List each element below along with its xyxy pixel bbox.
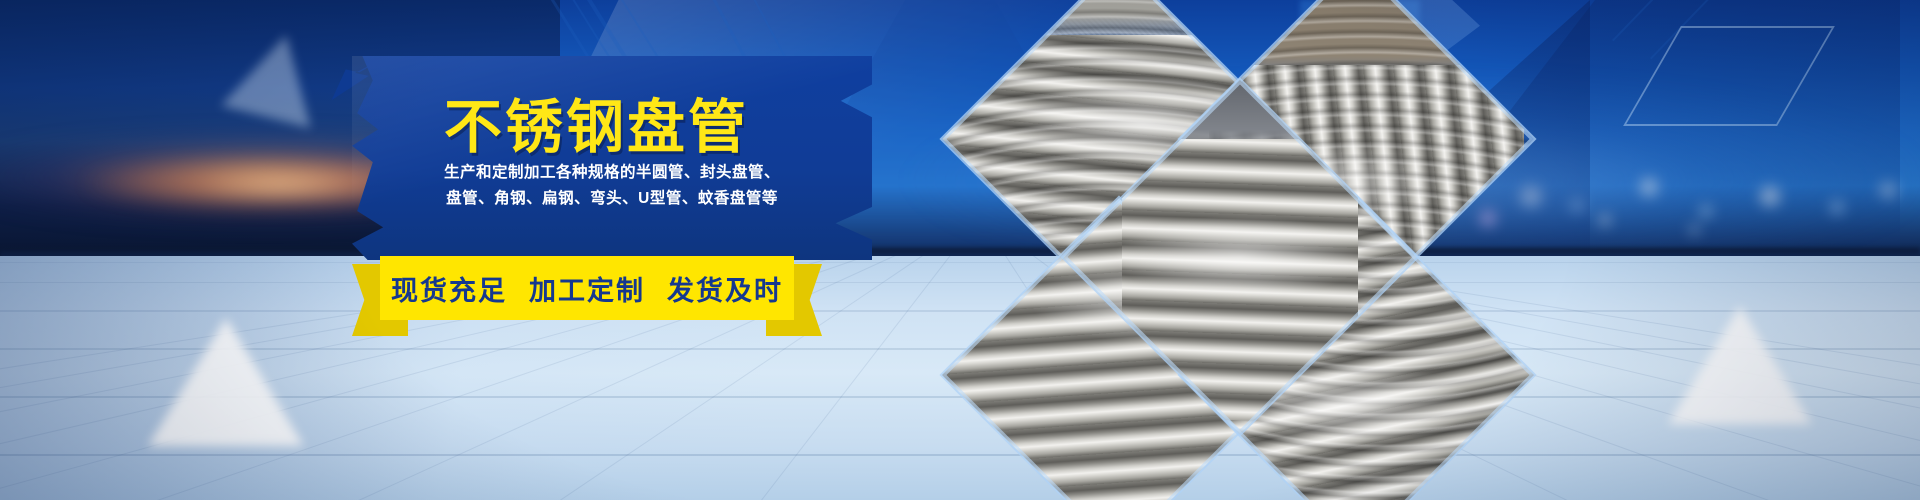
subtitle-block: 生产和定制加工各种规格的半圆管、封头盘管、 盘管、角钢、扁钢、弯头、U型管、蚊香… [352, 160, 872, 212]
headline-panel: 不锈钢盘管 生产和定制加工各种规格的半圆管、封头盘管、 盘管、角钢、扁钢、弯头、… [352, 56, 872, 260]
feature-ribbon: 现货充足 加工定制 发货及时 [352, 256, 822, 336]
ribbon-text: 现货充足 加工定制 发货及时 [380, 256, 794, 320]
page-title: 不锈钢盘管 [444, 80, 749, 164]
ribbon-item-2: 加工定制 [529, 269, 645, 308]
subtitle-line-1: 生产和定制加工各种规格的半圆管、封头盘管、 [352, 160, 872, 186]
ribbon-item-1: 现货充足 [391, 269, 507, 308]
ribbon-item-3: 发货及时 [667, 269, 783, 308]
product-photo-diamond-cluster [1020, 0, 1540, 440]
glow-triangle-icon-left [148, 318, 304, 446]
subtitle-line-2: 盘管、角钢、扁钢、弯头、U型管、蚊香盘管等 [352, 186, 872, 212]
promo-banner: 不锈钢盘管 生产和定制加工各种规格的半圆管、封头盘管、 盘管、角钢、扁钢、弯头、… [0, 0, 1920, 500]
floor-line-horizontal [0, 310, 1920, 312]
floor-line-horizontal [0, 282, 1920, 283]
floor-line-horizontal [0, 262, 1920, 263]
glow-triangle-icon-right [1668, 306, 1812, 424]
